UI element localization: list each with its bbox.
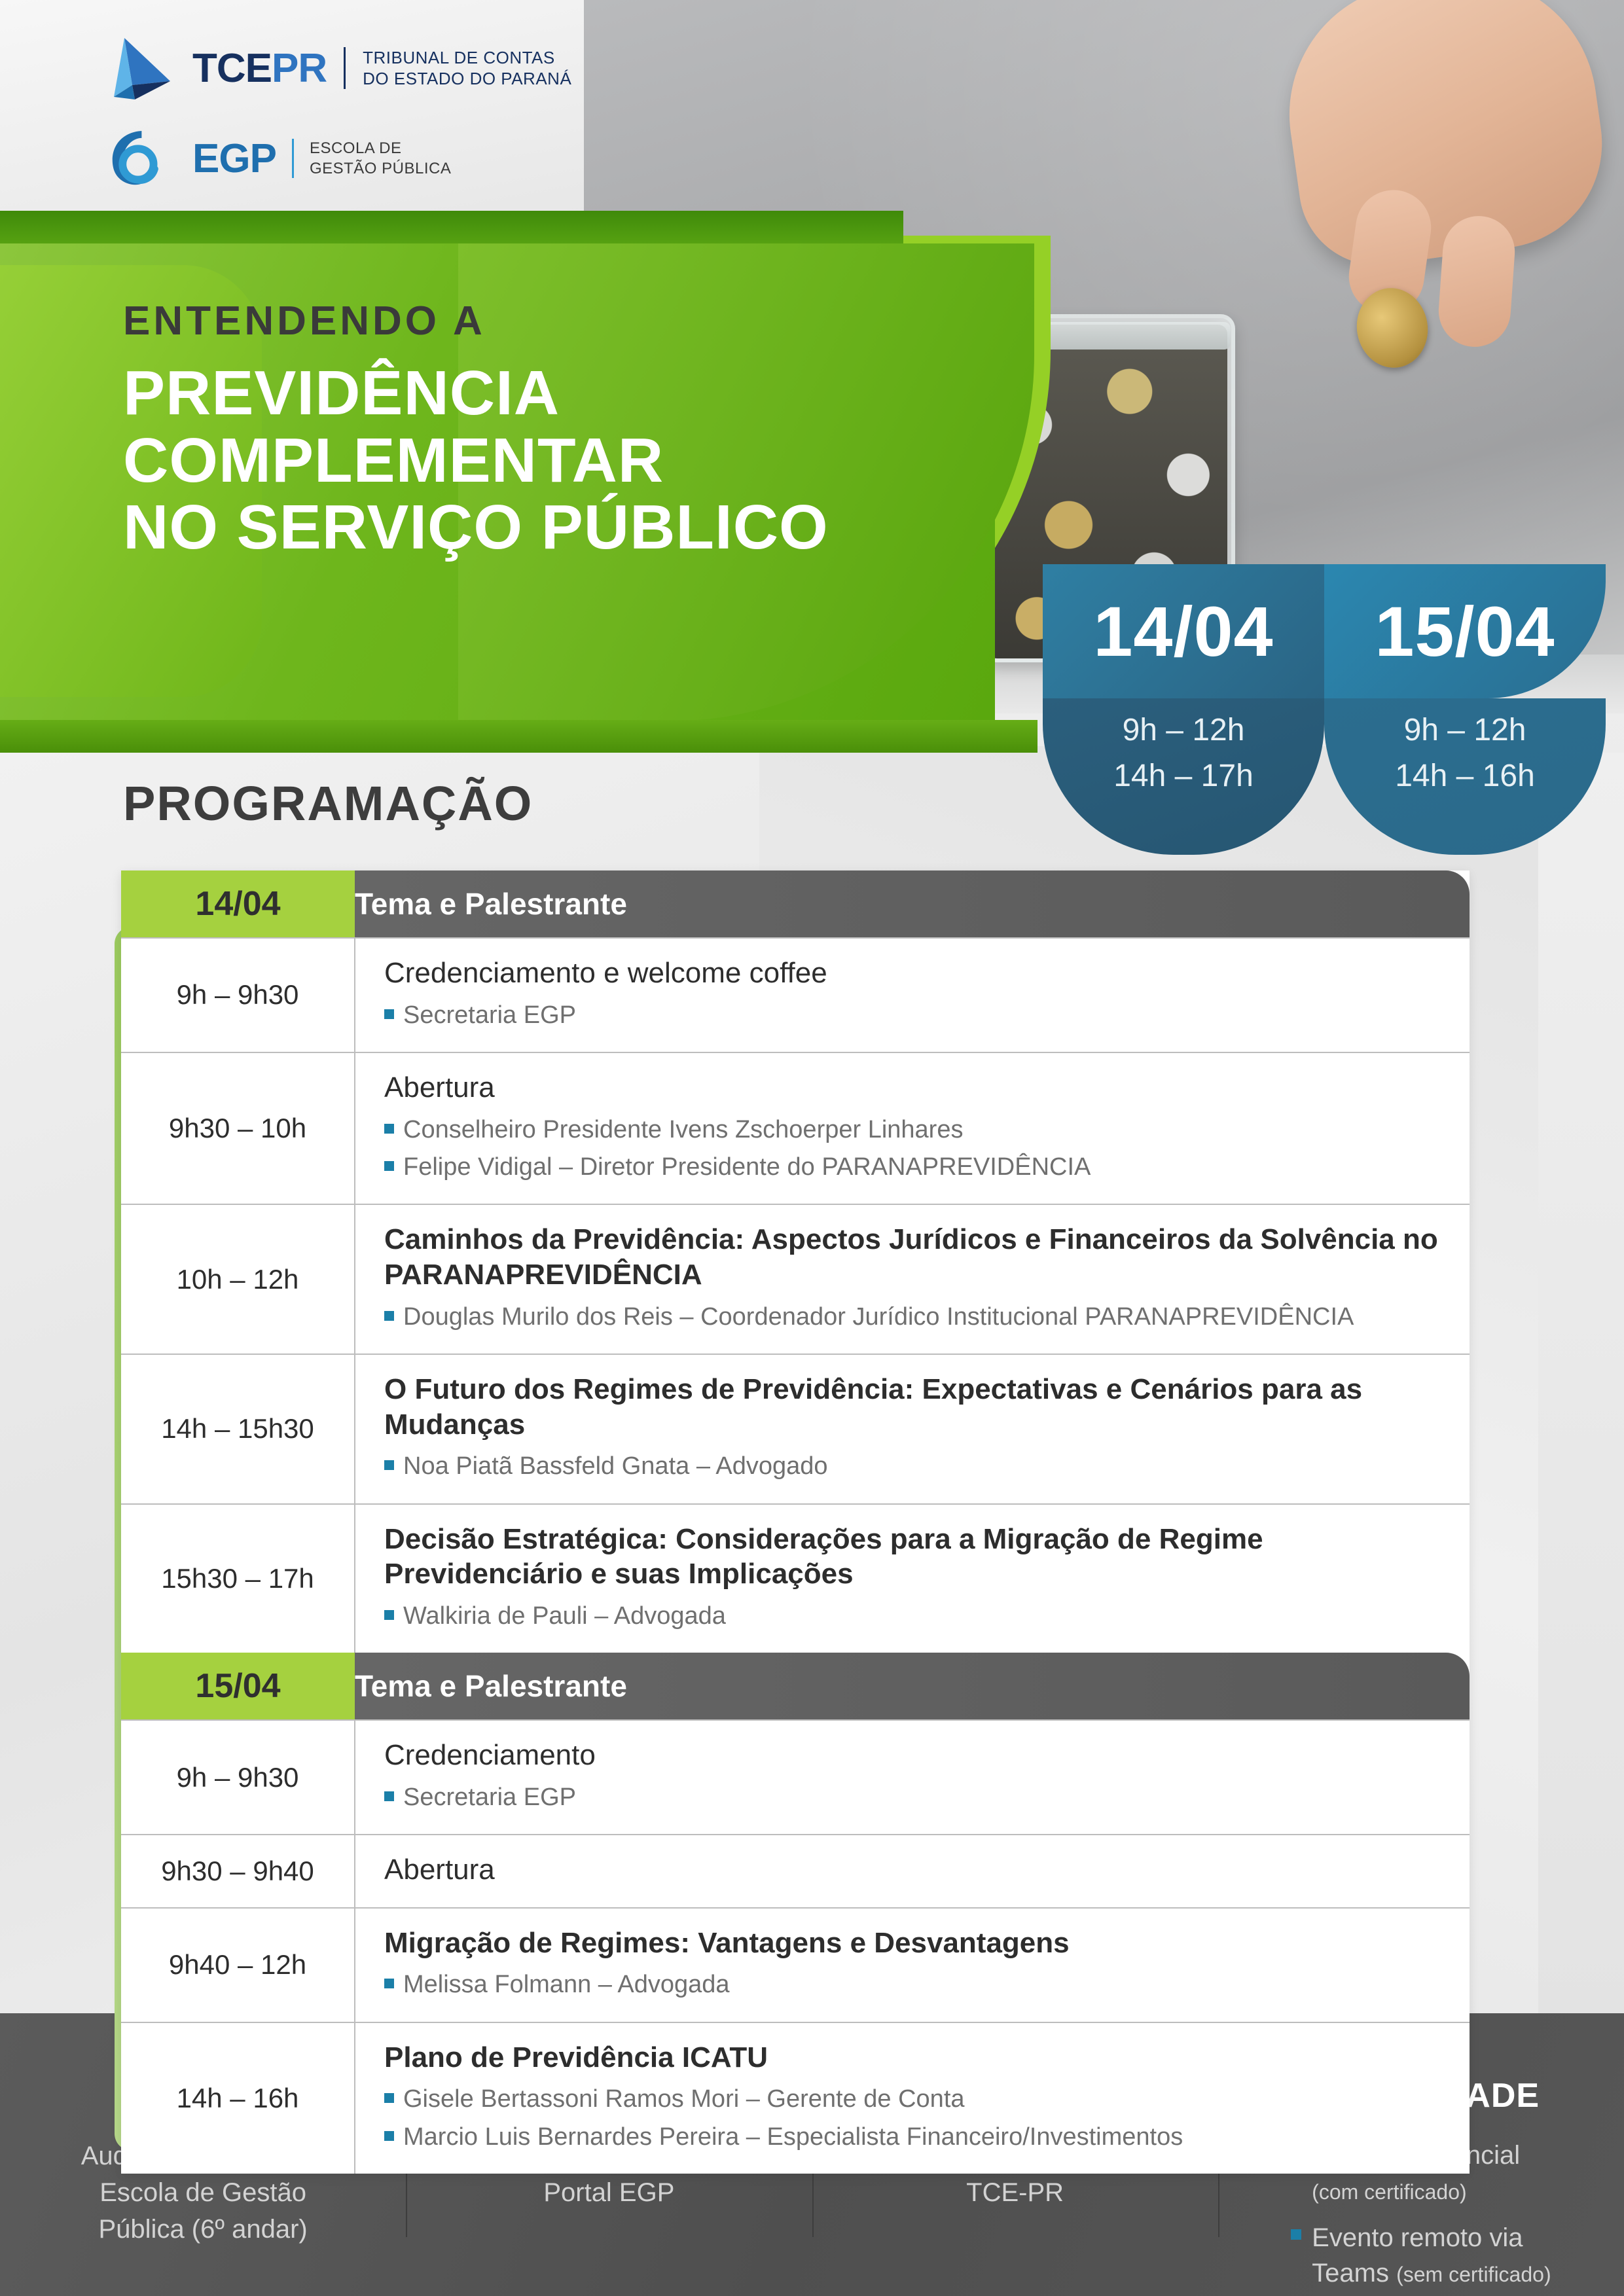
date-badge-2-times: 9h – 12h 14h – 16h [1324,698,1606,855]
row-content: Plano de Previdência ICATUGisele Bertass… [355,2022,1470,2174]
finger-2 [1436,213,1517,349]
row-title: Plano de Previdência ICATU [384,2040,1443,2075]
bullet-icon [384,1311,394,1321]
footer-text-line: Pública (6º andar) [81,2211,325,2248]
egp-subtitle: ESCOLA DE GESTÃO PÚBLICA [310,138,451,179]
tce-logo: TCEPR TRIBUNAL DE CONTAS DO ESTADO DO PA… [105,34,571,102]
row-content: AberturaConselheiro Presidente Ivens Zsc… [355,1052,1470,1204]
schedule-section-date: 14/04 [121,870,355,938]
date-badge-1-time2: 14h – 17h [1113,753,1254,799]
row-speaker: Marcio Luis Bernardes Pereira – Especial… [384,2121,1443,2154]
row-speaker-text: Conselheiro Presidente Ivens Zschoerper … [403,1113,963,1147]
bullet-icon [384,1009,394,1019]
schedule-column-header: Tema e Palestrante [355,870,1470,938]
hand-icon [1272,0,1615,276]
date-badges: 14/04 9h – 12h 14h – 17h 15/04 9h – 12h … [1043,564,1606,855]
table-row: 9h40 – 12hMigração de Regimes: Vantagens… [121,1908,1470,2022]
date-badge-2-top: 15/04 [1324,564,1606,698]
row-time: 9h30 – 10h [121,1052,355,1204]
bullet-icon [384,1979,394,1988]
bullet-icon [384,1610,394,1620]
row-title: Caminhos da Previdência: Aspectos Jurídi… [384,1222,1443,1292]
row-title: Decisão Estratégica: Considerações para … [384,1522,1443,1592]
row-title: Credenciamento e welcome coffee [384,956,1443,991]
date-badge-2-time2: 14h – 16h [1395,753,1535,799]
tce-word-b: PR [272,46,327,91]
table-row: 9h – 9h30CredenciamentoSecretaria EGP [121,1720,1470,1835]
row-speaker: Walkiria de Pauli – Advogada [384,1600,1443,1633]
date-badge-1-times: 9h – 12h 14h – 17h [1043,698,1324,855]
logo-group: TCEPR TRIBUNAL DE CONTAS DO ESTADO DO PA… [105,34,571,215]
row-time: 10h – 12h [121,1204,355,1354]
row-title: O Futuro dos Regimes de Previdência: Exp… [384,1372,1443,1442]
tce-wordmark: TCEPR [192,45,327,92]
table-row: 10h – 12hCaminhos da Previdência: Aspect… [121,1204,1470,1354]
row-content: Decisão Estratégica: Considerações para … [355,1504,1470,1653]
date-badge-2: 15/04 9h – 12h 14h – 16h [1324,564,1606,855]
hero-title-line3: NO SERVIÇO PÚBLICO [123,494,974,562]
footer-text-line: Escola de Gestão [81,2174,325,2211]
bullet-icon [384,2093,394,2103]
row-time: 9h – 9h30 [121,1720,355,1835]
schedule-table: 14/04Tema e Palestrante9h – 9h30Credenci… [121,870,1470,2174]
row-time: 15h30 – 17h [121,1504,355,1653]
date-badge-1-time1: 9h – 12h [1123,708,1245,753]
row-speaker: Conselheiro Presidente Ivens Zschoerper … [384,1113,1443,1147]
hero-title-line2: COMPLEMENTAR [123,427,974,495]
row-time: 9h40 – 12h [121,1908,355,2022]
schedule-section-date: 15/04 [121,1653,355,1720]
table-row: 14h – 16hPlano de Previdência ICATUGisel… [121,2022,1470,2174]
date-badge-1-top: 14/04 [1043,564,1324,698]
egp-logo-divider [292,139,294,178]
date-badge-2-time1: 9h – 12h [1404,708,1526,753]
row-time: 14h – 15h30 [121,1354,355,1504]
row-content: Abertura [355,1835,1470,1908]
row-speaker-text: Noa Piatã Bassfeld Gnata – Advogado [403,1450,828,1483]
tce-triangle-logo-icon [105,34,175,102]
background-panel-right [1538,753,1624,2016]
egp-subtitle-line1: ESCOLA DE [310,138,451,158]
row-speaker: Secretaria EGP [384,1781,1443,1814]
row-speaker: Felipe Vidigal – Diretor Presidente do P… [384,1151,1443,1184]
hero-title-line1: PREVIDÊNCIA [123,360,974,427]
tce-subtitle-line2: DO ESTADO DO PARANÁ [363,68,571,90]
date-badge-2-date: 15/04 [1375,590,1555,672]
bullet-icon [384,1791,394,1801]
table-row: 9h30 – 9h40Abertura [121,1835,1470,1908]
row-time: 9h – 9h30 [121,938,355,1052]
green-bar-bottom [0,720,1038,753]
row-speaker-text: Douglas Murilo dos Reis – Coordenador Ju… [403,1300,1354,1334]
table-row: 15h30 – 17hDecisão Estratégica: Consider… [121,1504,1470,1653]
row-content: Caminhos da Previdência: Aspectos Jurídi… [355,1204,1470,1354]
row-speaker-text: Felipe Vidigal – Diretor Presidente do P… [403,1151,1091,1184]
row-speaker-text: Secretaria EGP [403,1781,576,1814]
table-row: 14h – 15h30O Futuro dos Regimes de Previ… [121,1354,1470,1504]
row-content: Credenciamento e welcome coffeeSecretari… [355,938,1470,1052]
hero-kicker: ENTENDENDO A [123,298,974,344]
row-speaker: Noa Piatã Bassfeld Gnata – Advogado [384,1450,1443,1483]
row-speaker: Gisele Bertassoni Ramos Mori – Gerente d… [384,2083,1443,2116]
row-content: Migração de Regimes: Vantagens e Desvant… [355,1908,1470,2022]
row-content: CredenciamentoSecretaria EGP [355,1720,1470,1835]
schedule-section-header: 15/04Tema e Palestrante [121,1653,1470,1720]
footer-text-line: Portal EGP [527,2174,691,2211]
row-speaker-text: Walkiria de Pauli – Advogada [403,1600,726,1633]
egp-logo: EGP ESCOLA DE GESTÃO PÚBLICA [105,124,571,192]
list-item-text: Evento remoto viaTeams (sem certificado) [1312,2220,1551,2291]
row-speaker: Secretaria EGP [384,999,1443,1032]
bullet-icon [384,1124,394,1134]
row-title: Migração de Regimes: Vantagens e Desvant… [384,1926,1443,1961]
schedule-section-header: 14/04Tema e Palestrante [121,870,1470,938]
egp-subtitle-line2: GESTÃO PÚBLICA [310,158,451,179]
bullet-icon [384,1460,394,1470]
row-speaker: Douglas Murilo dos Reis – Coordenador Ju… [384,1300,1443,1334]
tce-word-a: TCE [192,46,272,91]
row-time: 14h – 16h [121,2022,355,2174]
hero-title-block: ENTENDENDO A PREVIDÊNCIA COMPLEMENTAR NO… [123,298,974,562]
row-speaker: Melissa Folmann – Advogada [384,1968,1443,2001]
row-speaker-text: Melissa Folmann – Advogada [403,1968,730,2001]
egp-swirl-logo-icon [105,124,175,192]
table-row: 9h – 9h30Credenciamento e welcome coffee… [121,938,1470,1052]
page-title: PROGRAMAÇÃO [123,776,533,831]
row-title: Credenciamento [384,1738,1443,1773]
hero-title: PREVIDÊNCIA COMPLEMENTAR NO SERVIÇO PÚBL… [123,360,974,562]
egp-wordmark: EGP [192,135,276,182]
event-poster: TCEPR TRIBUNAL DE CONTAS DO ESTADO DO PA… [0,0,1624,2296]
list-item: Evento remoto viaTeams (sem certificado) [1291,2220,1551,2291]
tce-subtitle: TRIBUNAL DE CONTAS DO ESTADO DO PARANÁ [363,47,571,90]
row-speaker-text: Secretaria EGP [403,999,576,1032]
tce-subtitle-line1: TRIBUNAL DE CONTAS [363,47,571,69]
date-badge-1: 14/04 9h – 12h 14h – 17h [1043,564,1324,855]
table-row: 9h30 – 10hAberturaConselheiro Presidente… [121,1052,1470,1204]
row-speaker-text: Marcio Luis Bernardes Pereira – Especial… [403,2121,1183,2154]
footer-text-line: TCE-PR [934,2174,1096,2211]
green-bar-top [0,211,903,246]
schedule-column-header: Tema e Palestrante [355,1653,1470,1720]
bullet-icon [384,2131,394,2141]
row-title: Abertura [384,1852,1443,1888]
row-speaker-text: Gisele Bertassoni Ramos Mori – Gerente d… [403,2083,965,2116]
logo-divider [344,47,346,89]
row-time: 9h30 – 9h40 [121,1835,355,1908]
bullet-icon [1291,2229,1301,2240]
date-badge-1-date: 14/04 [1093,590,1273,672]
row-content: O Futuro dos Regimes de Previdência: Exp… [355,1354,1470,1504]
schedule-table-wrap: 14/04Tema e Palestrante9h – 9h30Credenci… [121,870,1509,2174]
bullet-icon [384,1161,394,1171]
row-title: Abertura [384,1070,1443,1105]
